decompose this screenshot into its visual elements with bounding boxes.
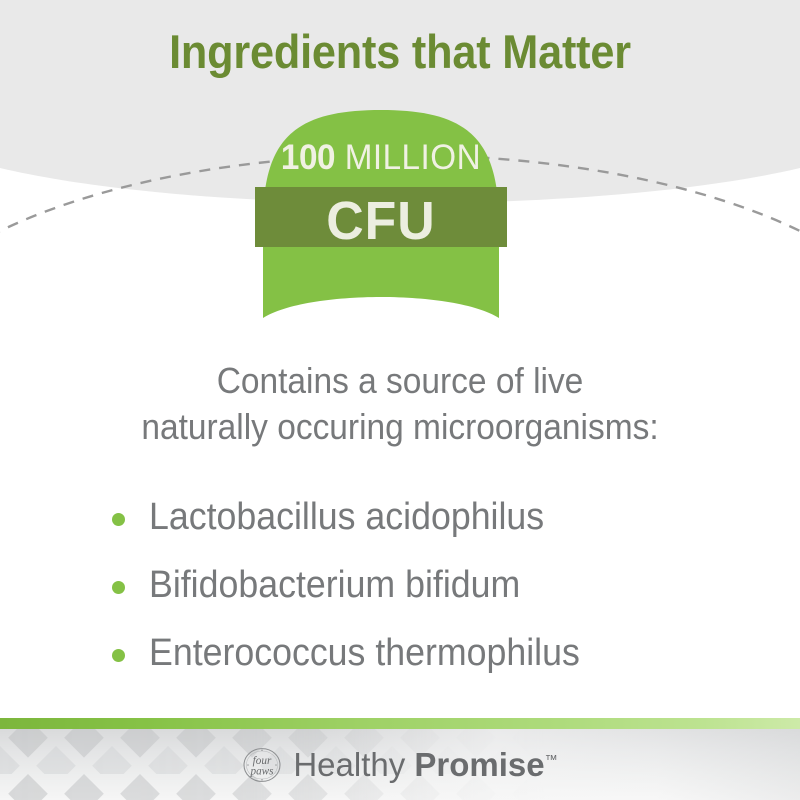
bullet-dot-icon [112, 513, 125, 526]
logo-word-paws: paws [250, 765, 275, 777]
brand-word-promise: Promise [414, 746, 544, 783]
badge-unit: MILLION [345, 138, 481, 177]
page-title: Ingredients that Matter [32, 26, 768, 78]
cfu-badge: 100 MILLION CFU [255, 104, 507, 329]
badge-measure: CFU [260, 194, 502, 248]
footer-green-accent-bar [0, 718, 800, 729]
lede-line-2: naturally occuring microorganisms: [84, 404, 716, 450]
lede-line-1: Contains a source of live [84, 358, 716, 404]
badge-amount: 100 [281, 138, 335, 177]
footer-brand-bar: four paws Healthy Promise™ [0, 718, 800, 800]
ingredient-label: Bifidobacterium bifidum [149, 566, 520, 604]
badge-amount-line: 100 MILLION [261, 140, 500, 175]
logo-word-four: four [253, 754, 272, 766]
infographic-page: Ingredients that Matter 100 MILLION CFU … [0, 0, 800, 800]
ingredient-list: Lactobacillus acidophilus Bifidobacteriu… [112, 486, 712, 690]
bullet-dot-icon [112, 649, 125, 662]
trademark-symbol: ™ [545, 752, 558, 767]
list-item: Bifidobacterium bifidum [112, 554, 712, 616]
four-paws-logo-icon: four paws [242, 745, 282, 785]
list-item: Enterococcus thermophilus [112, 622, 712, 684]
bullet-dot-icon [112, 581, 125, 594]
ingredient-label: Lactobacillus acidophilus [149, 498, 544, 536]
list-item: Lactobacillus acidophilus [112, 486, 712, 548]
brand-word-healthy: Healthy [293, 746, 405, 783]
lede-paragraph: Contains a source of live naturally occu… [84, 358, 716, 450]
brand-lockup: four paws Healthy Promise™ [0, 729, 800, 800]
brand-name: Healthy Promise™ [293, 748, 557, 781]
ingredient-label: Enterococcus thermophilus [149, 634, 580, 672]
